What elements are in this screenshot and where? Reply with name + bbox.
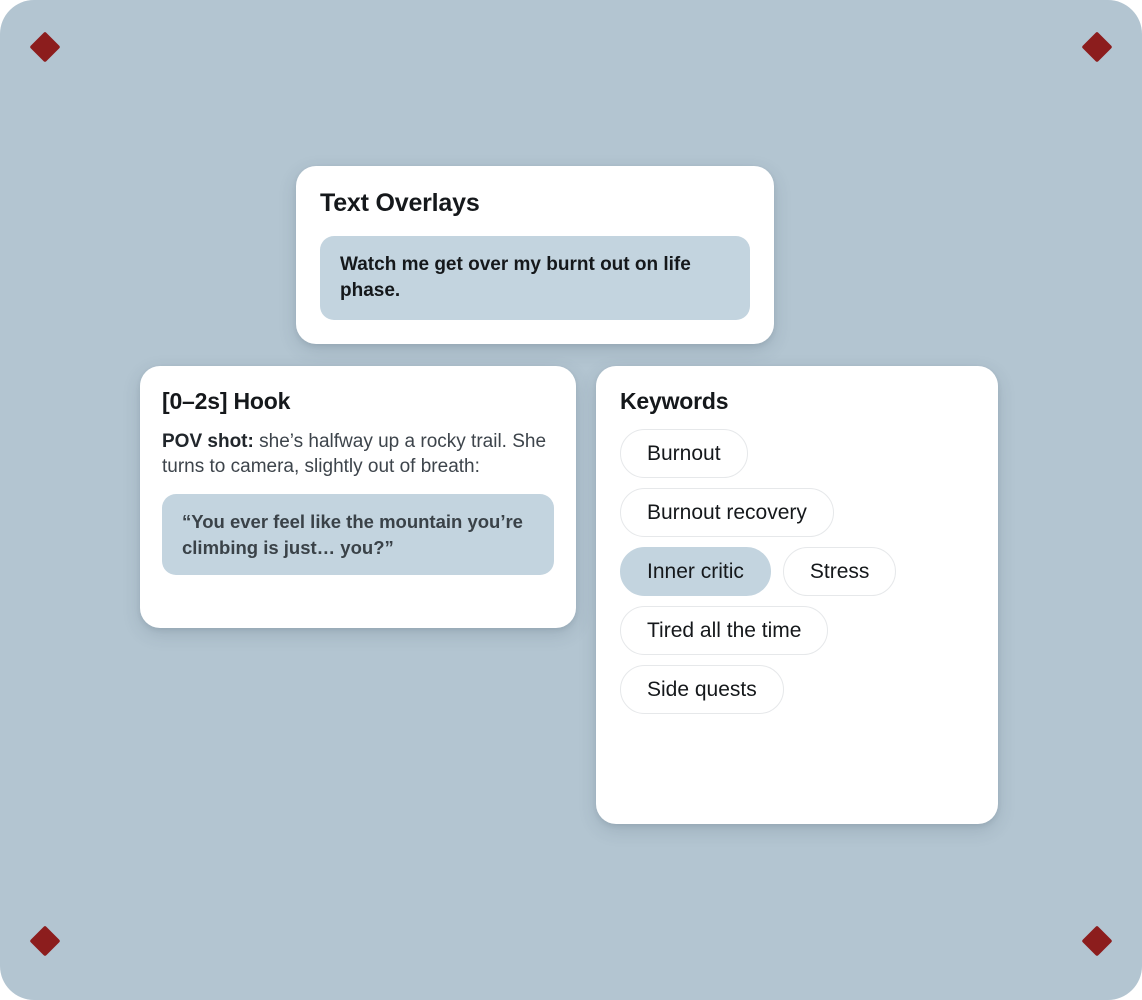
keyword-chip-row: Side quests: [620, 665, 974, 714]
hook-title: [0–2s] Hook: [162, 388, 554, 416]
keyword-chip[interactable]: Tired all the time: [620, 606, 828, 655]
keyword-chip[interactable]: Stress: [783, 547, 897, 596]
overlay-text-bubble: Watch me get over my burnt out on life p…: [320, 236, 750, 320]
keyword-chip[interactable]: Inner critic: [620, 547, 771, 596]
keyword-chip-row: Inner criticStress: [620, 547, 974, 596]
diamond-icon-top-left: [29, 31, 60, 62]
keywords-card: Keywords BurnoutBurnout recoveryInner cr…: [596, 366, 998, 824]
text-overlays-card: Text Overlays Watch me get over my burnt…: [296, 166, 774, 344]
keyword-chip[interactable]: Burnout recovery: [620, 488, 834, 537]
diamond-icon-top-right: [1081, 31, 1112, 62]
keyword-chip[interactable]: Burnout: [620, 429, 748, 478]
hook-card: [0–2s] Hook POV shot: she’s halfway up a…: [140, 366, 576, 628]
hook-quote-bubble: “You ever feel like the mountain you’re …: [162, 494, 554, 575]
keyword-chip-list: BurnoutBurnout recoveryInner criticStres…: [620, 429, 974, 714]
hook-body-lead: POV shot:: [162, 431, 254, 452]
keyword-chip-row: Burnout recovery: [620, 488, 974, 537]
keyword-chip-row: Tired all the time: [620, 606, 974, 655]
keywords-title: Keywords: [620, 388, 974, 416]
diamond-icon-bottom-right: [1081, 925, 1112, 956]
keyword-chip-row: Burnout: [620, 429, 974, 478]
hook-body: POV shot: she’s halfway up a rocky trail…: [162, 429, 554, 481]
page-canvas: Text Overlays Watch me get over my burnt…: [0, 0, 1142, 1000]
diamond-icon-bottom-left: [29, 925, 60, 956]
keyword-chip[interactable]: Side quests: [620, 665, 784, 714]
text-overlays-title: Text Overlays: [320, 188, 750, 218]
